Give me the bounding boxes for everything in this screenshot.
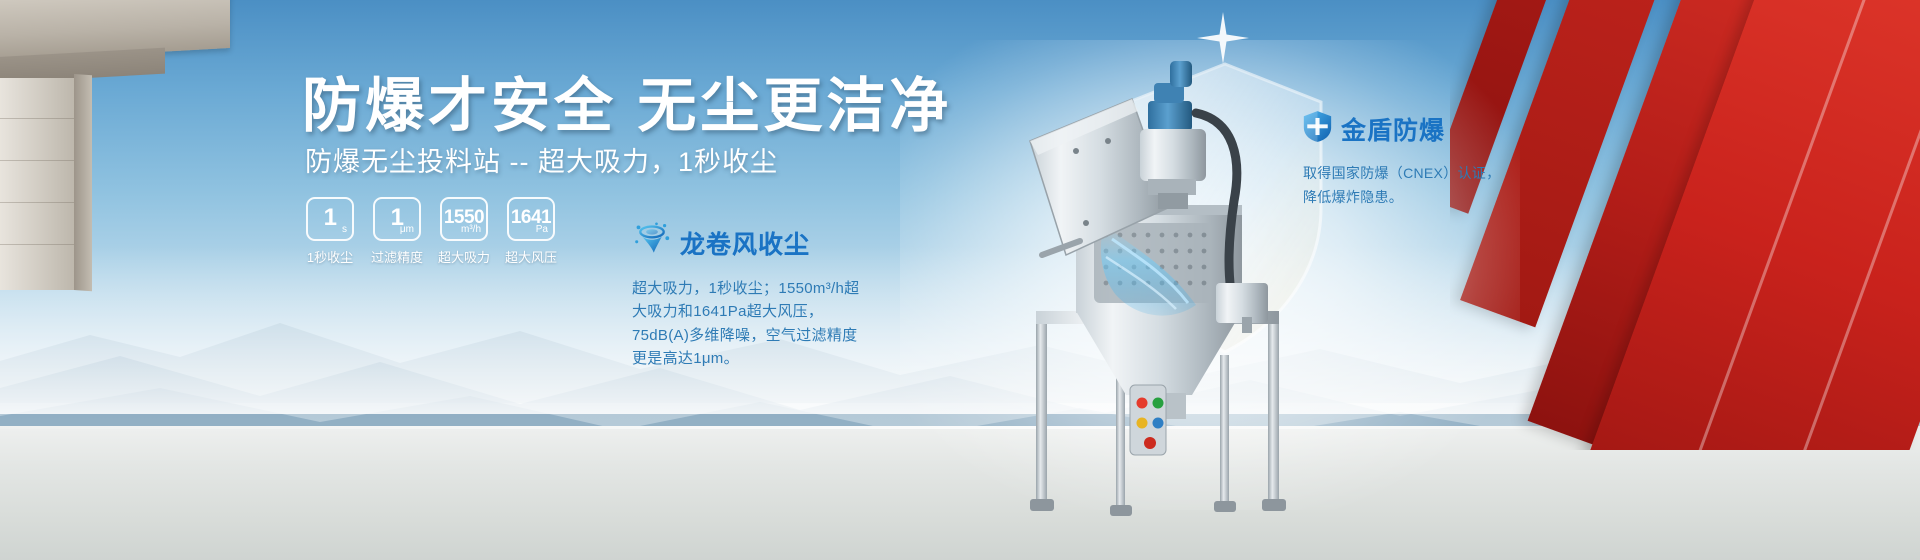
shield-icon [1303, 110, 1332, 148]
spec-badge: 1 s 1秒收尘 [306, 197, 354, 266]
product-machine-image [1020, 55, 1340, 525]
spec-badge-box: 1 μm [373, 197, 421, 241]
concrete-structure [0, 0, 230, 290]
spec-badge-unit: m³/h [461, 225, 481, 235]
spec-badge-unit: μm [400, 225, 414, 235]
spec-badge-box: 1 s [306, 197, 354, 241]
spec-badge-caption: 超大吸力 [438, 247, 490, 266]
spec-badge: 1550 m³/h 超大吸力 [440, 197, 488, 266]
feature-shield-body: 取得国家防爆（CNEX）认证，降低爆炸隐患。 [1303, 162, 1503, 210]
spec-badge-caption: 超大风压 [505, 247, 557, 266]
feature-tornado-header: 龙卷风收尘 [632, 222, 862, 263]
red-architecture [1450, 0, 1920, 450]
feature-shield-header: 金盾防爆 [1303, 110, 1503, 148]
spec-badge-unit: s [342, 225, 347, 235]
banner-subheadline: 防爆无尘投料站 -- 超大吸力，1秒收尘 [305, 140, 778, 179]
feature-tornado-title: 龙卷风收尘 [680, 225, 810, 261]
feature-shield: 金盾防爆 取得国家防爆（CNEX）认证，降低爆炸隐患。 [1303, 110, 1503, 210]
spec-badge-box: 1641 Pa [507, 197, 555, 241]
spec-badge-list: 1 s 1秒收尘 1 μm 过滤精度 1550 m³/h 超大吸力 1641 P… [306, 197, 555, 266]
spec-badge-caption: 1秒收尘 [307, 247, 353, 266]
promo-banner: 防爆才安全 无尘更洁净 防爆无尘投料站 -- 超大吸力，1秒收尘 1 s 1秒收… [0, 0, 1920, 560]
banner-headline: 防爆才安全 无尘更洁净 [302, 58, 952, 143]
spec-badge: 1 μm 过滤精度 [373, 197, 421, 266]
spec-badge-box: 1550 m³/h [440, 197, 488, 241]
spec-badge: 1641 Pa 超大风压 [507, 197, 555, 266]
spec-badge-caption: 过滤精度 [371, 247, 423, 266]
feature-tornado-body: 超大吸力，1秒收尘；1550m³/h超大吸力和1641Pa超大风压，75dB(A… [632, 277, 862, 370]
tornado-icon [632, 222, 672, 263]
feature-shield-title: 金盾防爆 [1341, 111, 1445, 147]
spec-badge-unit: Pa [536, 225, 548, 235]
feature-tornado: 龙卷风收尘 超大吸力，1秒收尘；1550m³/h超大吸力和1641Pa超大风压，… [632, 222, 862, 370]
